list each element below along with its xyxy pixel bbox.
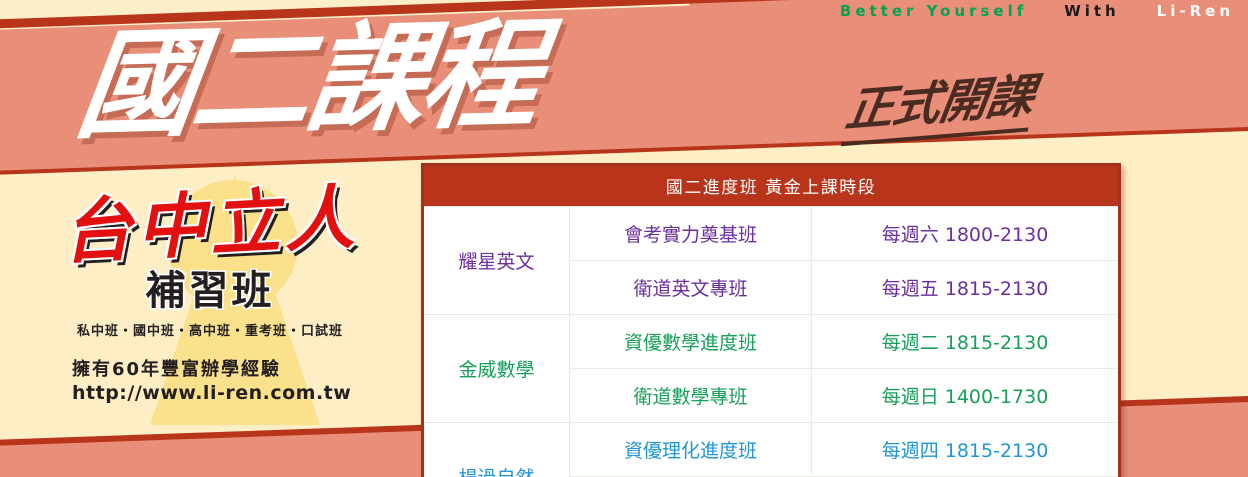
course-cell: 資優理化進度班: [570, 423, 812, 477]
course-cell: 會考實力奠基班: [570, 207, 812, 261]
table-row: 耀星英文 會考實力奠基班 每週六 1800-2130: [423, 207, 1120, 261]
course-cell: 資優數學進度班: [570, 315, 812, 369]
page-subtitle: 正式開課: [841, 57, 1039, 147]
time-cell: 每週六 1800-2130: [812, 207, 1120, 261]
tagline-part-3: Li-Ren: [1157, 2, 1234, 20]
schedule-table-title: 國二進度班 黃金上課時段: [423, 165, 1120, 207]
course-cell: 衛道英文專班: [570, 261, 812, 315]
schedule-table: 國二進度班 黃金上課時段 耀星英文 會考實力奠基班 每週六 1800-2130 …: [421, 163, 1121, 477]
time-cell: 每週五 1815-2130: [812, 261, 1120, 315]
subject-cell: 耀星英文: [423, 207, 570, 315]
subject-cell: 楊過自然: [423, 423, 570, 477]
promo-banner: Better Yourself With Li-Ren 國二課程 正式開課 台中…: [0, 0, 1248, 477]
table-row: 楊過自然 資優理化進度班 每週四 1815-2130: [423, 423, 1120, 477]
page-title: 國二課程: [70, 4, 546, 155]
schedule-table-body: 耀星英文 會考實力奠基班 每週六 1800-2130 衛道英文專班 每週五 18…: [423, 207, 1120, 477]
logo-block: 台中立人 補習班 私中班・國中班・高中班・重考班・口試班 擁有60年豐富辦學經驗…: [30, 188, 390, 404]
logo-name-main: 台中立人: [28, 179, 391, 271]
logo-website-url: http://www.li-ren.com.tw: [30, 382, 390, 404]
time-cell: 每週四 1815-2130: [812, 423, 1120, 477]
course-cell: 衛道數學專班: [570, 369, 812, 423]
time-cell: 每週日 1400-1730: [812, 369, 1120, 423]
table-row: 金威數學 資優數學進度班 每週二 1815-2130: [423, 315, 1120, 369]
tagline-part-2: With: [1064, 2, 1120, 20]
time-cell: 每週二 1815-2130: [812, 315, 1120, 369]
tagline-part-1: Better Yourself: [840, 2, 1027, 20]
logo-experience-text: 擁有60年豐富辦學經驗: [30, 355, 390, 381]
logo-class-list: 私中班・國中班・高中班・重考班・口試班: [30, 320, 390, 339]
table-header-row: 國二進度班 黃金上課時段: [423, 165, 1120, 207]
subject-cell: 金威數學: [423, 315, 570, 423]
